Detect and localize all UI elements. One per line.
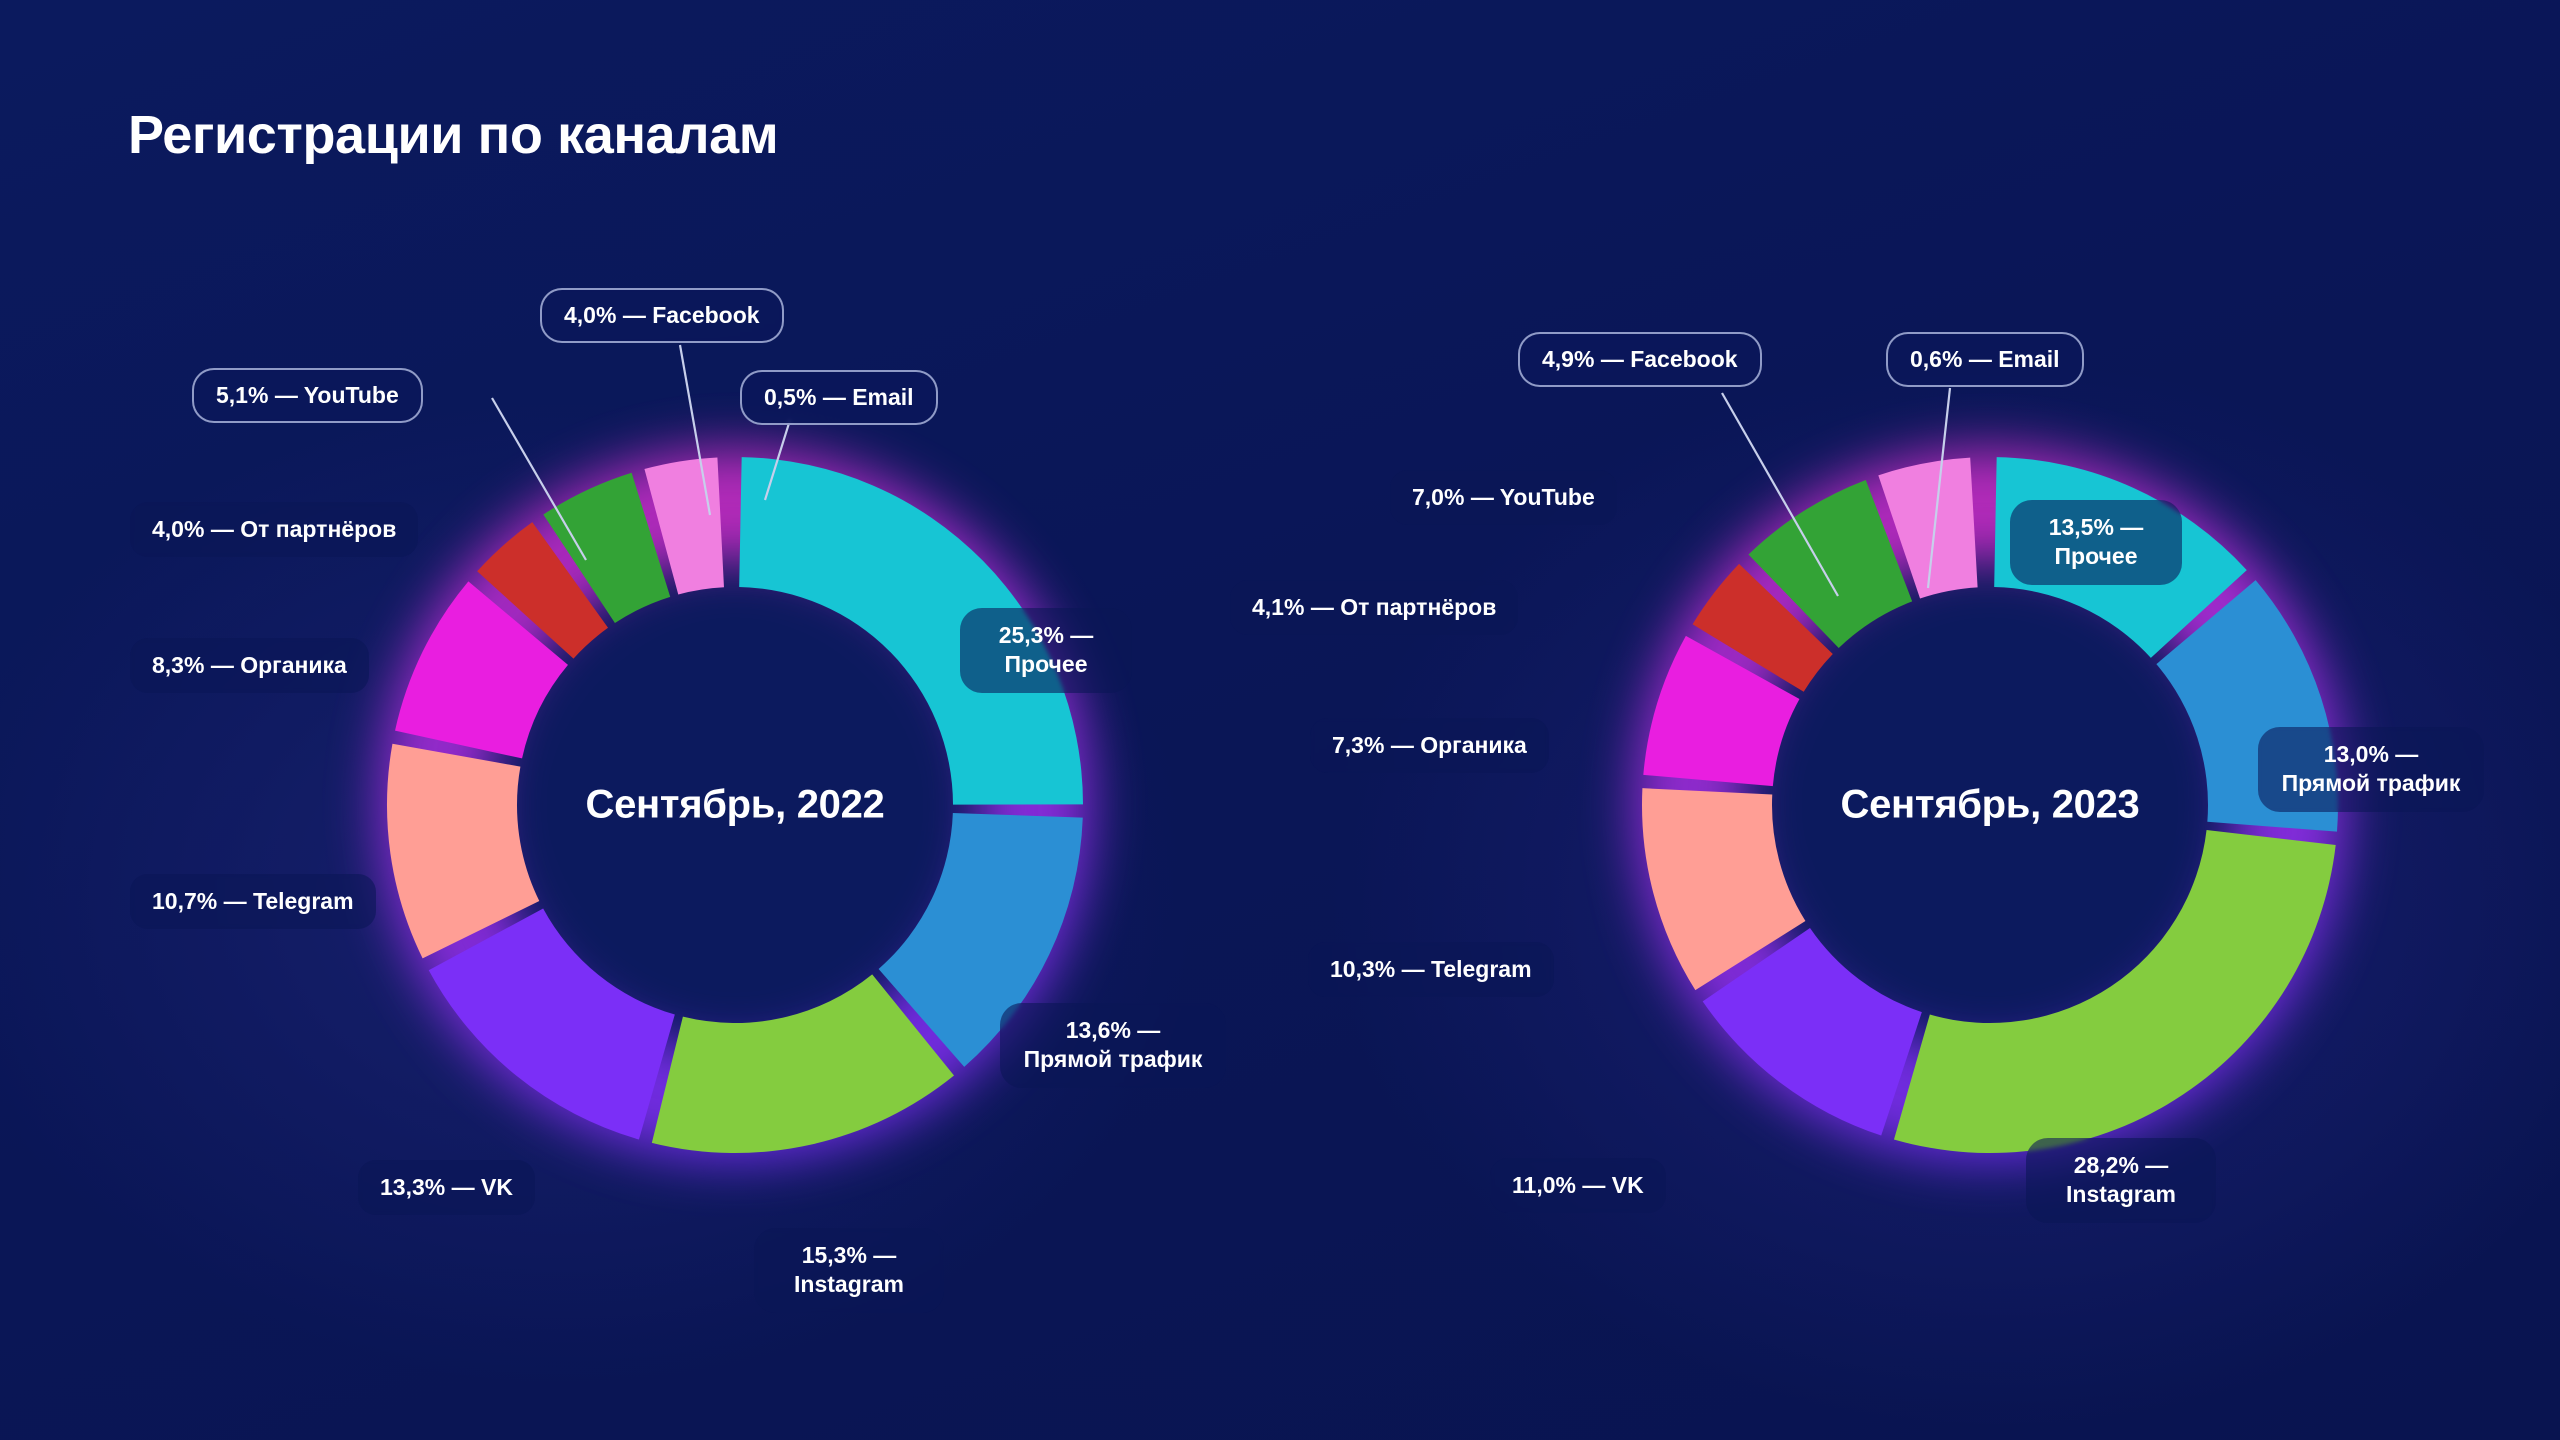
label-direct-2023[interactable]: 13,0% — Прямой трафик (2258, 727, 2484, 812)
label-instagram-percent-2022: 15,3% — (802, 1242, 897, 1268)
label-instagram-2023[interactable]: 28,2% — Instagram (2026, 1138, 2216, 1223)
label-youtube-2023[interactable]: 7,0% — YouTube (1390, 470, 1617, 525)
label-instagram-percent-2023: 28,2% — (2074, 1152, 2169, 1178)
label-organic-2022[interactable]: 8,3% — Органика (130, 638, 369, 693)
label-direct-2022[interactable]: 13,6% — Прямой трафик (1000, 1003, 1226, 1088)
label-other-percent-2022: 25,3% — (999, 622, 1094, 648)
label-email-2022[interactable]: 0,5% — Email (740, 370, 938, 425)
label-other-2022[interactable]: 25,3% — Прочее (960, 608, 1132, 693)
label-email-2023[interactable]: 0,6% — Email (1886, 332, 2084, 387)
label-other-name-2023: Прочее (2055, 543, 2138, 569)
label-facebook-2022[interactable]: 4,0% — Facebook (540, 288, 784, 343)
pie-slice-vk[interactable] (429, 908, 675, 1139)
chart-center-label-2022: Сентябрь, 2022 (586, 783, 885, 828)
label-direct-percent-2023: 13,0% — (2324, 741, 2419, 767)
label-direct-name-2023: Прямой трафик (2282, 770, 2461, 796)
label-instagram-name-2022: Instagram (794, 1271, 904, 1297)
chart-center-label-2023: Сентябрь, 2023 (1841, 783, 2140, 828)
label-facebook-2023[interactable]: 4,9% — Facebook (1518, 332, 1762, 387)
label-vk-2023[interactable]: 11,0% — VK (1490, 1158, 1666, 1213)
page-title: Регистрации по каналам (128, 104, 778, 166)
label-other-2023[interactable]: 13,5% — Прочее (2010, 500, 2182, 585)
label-telegram-2022[interactable]: 10,7% — Telegram (130, 874, 376, 929)
label-other-percent-2023: 13,5% — (2049, 514, 2144, 540)
label-organic-2023[interactable]: 7,3% — Органика (1310, 718, 1549, 773)
pie-slice-instagram[interactable] (1894, 830, 2336, 1153)
label-vk-2022[interactable]: 13,3% — VK (358, 1160, 535, 1215)
label-partners-2023[interactable]: 4,1% — От партнёров (1230, 580, 1518, 635)
label-other-name-2022: Прочее (1005, 651, 1088, 677)
label-partners-2022[interactable]: 4,0% — От партнёров (130, 502, 418, 557)
label-instagram-2022[interactable]: 15,3% — Instagram (754, 1228, 944, 1313)
label-direct-percent-2022: 13,6% — (1066, 1017, 1161, 1043)
label-direct-name-2022: Прямой трафик (1024, 1046, 1203, 1072)
label-instagram-name-2023: Instagram (2066, 1181, 2176, 1207)
label-telegram-2023[interactable]: 10,3% — Telegram (1308, 942, 1554, 997)
label-youtube-2022[interactable]: 5,1% — YouTube (192, 368, 423, 423)
